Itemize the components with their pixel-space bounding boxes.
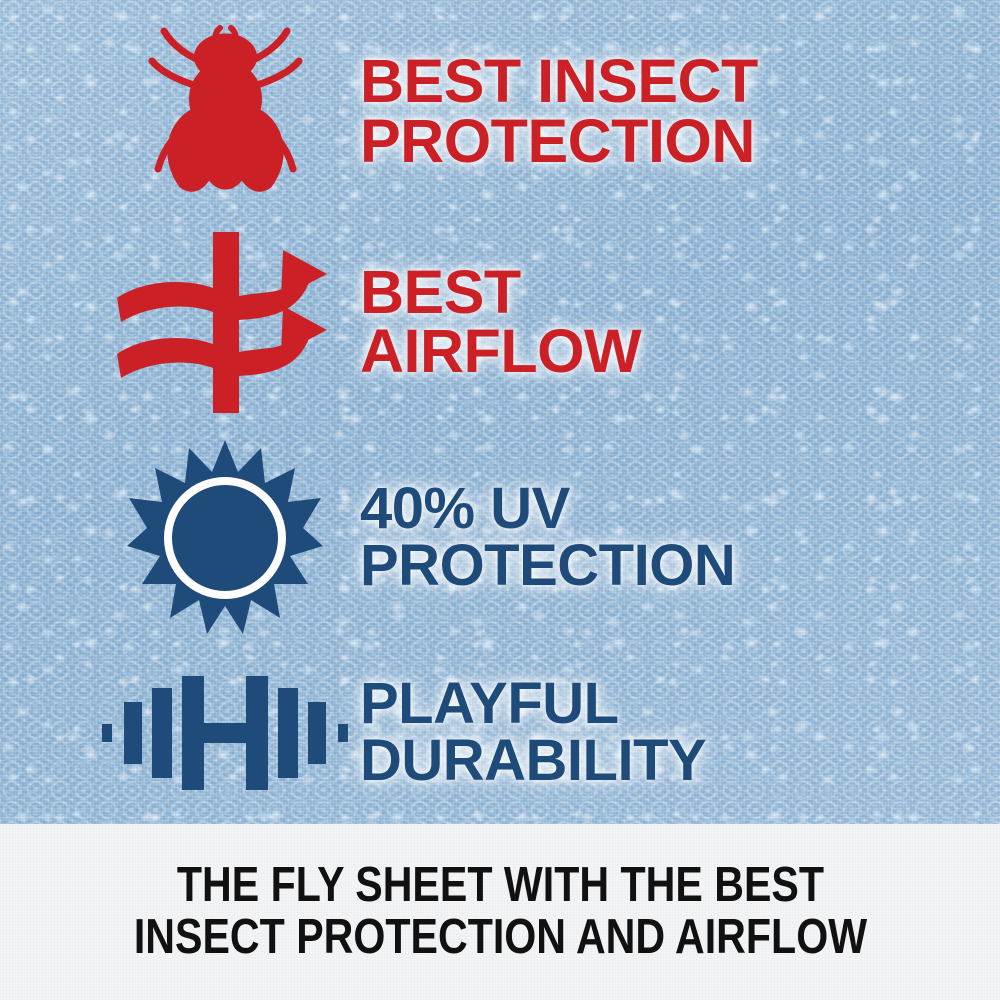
- feature-icon-slot: [100, 668, 350, 798]
- feature-icon-slot: [100, 17, 350, 207]
- product-feature-infographic: BEST INSECT PROTECTION: [0, 0, 1000, 1000]
- caption-bar: THE FLY SHEET WITH THE BEST INSECT PROTE…: [0, 824, 1000, 1000]
- feature-row-uv-protection: 40% UV PROTECTION: [100, 435, 960, 640]
- feature-row-airflow: BEST AIRFLOW: [100, 222, 960, 422]
- feature-label-durability: PLAYFUL DURABILITY: [350, 676, 960, 789]
- feature-row-durability: PLAYFUL DURABILITY: [100, 645, 960, 820]
- feature-label-insect-protection: BEST INSECT PROTECTION: [350, 52, 960, 170]
- caption-headline: THE FLY SHEET WITH THE BEST INSECT PROTE…: [127, 860, 874, 964]
- feature-label-uv-protection: 40% UV PROTECTION: [350, 481, 960, 594]
- airflow-icon: [113, 230, 338, 415]
- feature-row-insect-protection: BEST INSECT PROTECTION: [100, 14, 960, 209]
- feature-icon-slot: [100, 438, 350, 638]
- dumbbell-icon: [100, 668, 350, 798]
- feature-list: BEST INSECT PROTECTION: [0, 0, 1000, 824]
- fly-icon: [138, 17, 313, 207]
- feature-label-airflow: BEST AIRFLOW: [350, 263, 960, 381]
- sun-uv-icon: [125, 438, 325, 638]
- feature-icon-slot: [100, 230, 350, 415]
